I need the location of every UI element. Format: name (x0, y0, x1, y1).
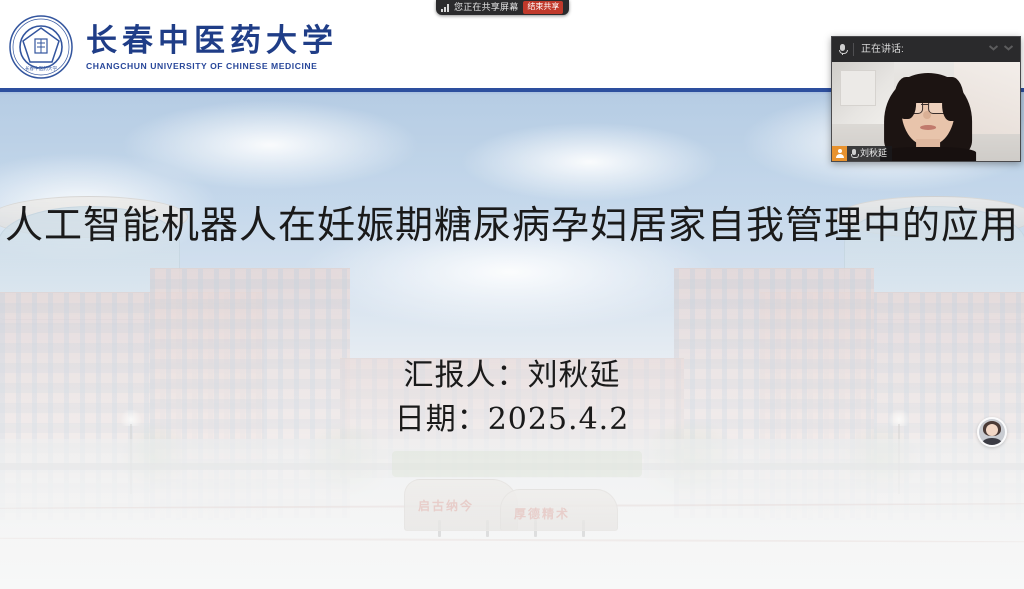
screen-share-bar[interactable]: 您正在共享屏幕 结束共享 (436, 0, 569, 15)
university-name-en: CHANGCHUN UNIVERSITY OF CHINESE MEDICINE (86, 61, 338, 72)
portrait-hair-side (942, 77, 964, 121)
share-status-text: 您正在共享屏幕 (454, 0, 518, 15)
rotunda-cap (0, 196, 188, 238)
microphone-icon (851, 149, 857, 158)
campus-photo-background: 启古纳今 厚德精术 (0, 92, 1024, 589)
rotunda-glass (844, 206, 1024, 320)
video-feed[interactable]: 刘秋延 (832, 62, 1020, 161)
university-wordmark: 长春中医药大学 CHANGCHUN UNIVERSITY OF CHINESE … (86, 23, 338, 72)
road-marking (0, 537, 1024, 543)
video-panel-controls[interactable] (988, 43, 1014, 54)
cloud-shape (300, 212, 720, 332)
rotunda-glass (0, 206, 180, 320)
end-share-button[interactable]: 结束共享 (523, 1, 563, 14)
speaker-video-panel[interactable]: 正在讲话: (831, 36, 1021, 162)
svg-text:长春中医药大学: 长春中医药大学 (25, 65, 58, 72)
microphone-icon (839, 44, 846, 55)
university-seal-icon: 长春中医药大学 (8, 14, 74, 80)
bollard (486, 520, 489, 537)
lamp-head (118, 410, 144, 426)
portrait-glasses-bridge (921, 104, 928, 105)
video-panel-titlebar[interactable]: 正在讲话: (832, 37, 1020, 62)
cloud-shape (0, 152, 220, 262)
video-panel-title: 正在讲话: (861, 37, 904, 62)
shared-screen-view: 启古纳今 厚德精术 人工智能机器人在妊娠期糖尿病孕妇居家自我管理中的应用 汇报人… (0, 0, 1024, 589)
chevron-icon[interactable] (988, 43, 999, 54)
participant-nametag: 刘秋延 (832, 146, 892, 161)
rotunda-cap (836, 196, 1024, 238)
portrait-mouth (920, 125, 936, 130)
portrait-nose (923, 111, 931, 119)
university-logo: 长春中医药大学 长春中医药大学 CHANGCHUN UNIVERSITY OF … (8, 14, 338, 80)
nametag-body: 刘秋延 (847, 146, 892, 161)
university-name-cn: 长春中医药大学 (86, 23, 338, 60)
road-marking (0, 503, 1024, 510)
participant-name: 刘秋延 (860, 146, 887, 161)
portrait-hair-side (894, 77, 916, 119)
lamp-head (886, 410, 912, 426)
chevron-icon[interactable] (1003, 43, 1014, 54)
avatar-face (986, 424, 998, 436)
bollard (582, 520, 585, 537)
cloud-shape (120, 100, 420, 190)
self-view-avatar-icon[interactable] (977, 417, 1007, 447)
lawn (392, 451, 642, 477)
participant-avatar-icon (832, 146, 847, 161)
cloud-shape (460, 122, 720, 202)
bollard (438, 520, 441, 537)
bollard (534, 520, 537, 537)
portrait-shoulders (880, 147, 976, 161)
signal-bars-icon (441, 4, 449, 12)
background-panel (840, 70, 876, 106)
titlebar-separator (853, 43, 854, 56)
